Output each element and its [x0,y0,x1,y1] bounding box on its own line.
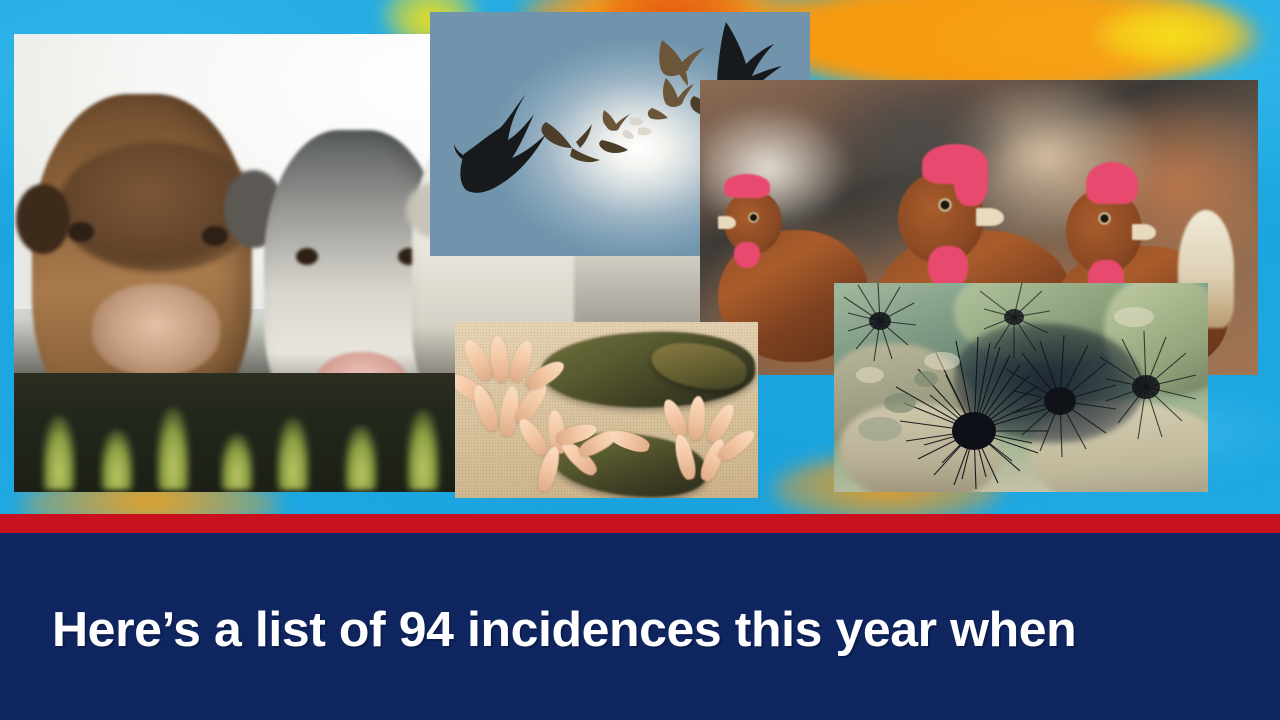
red-divider-bar [0,514,1280,533]
sea-urchin-spines-icon [834,283,1208,492]
headline-line-1: Here’s a list of 94 incidences this year… [52,602,1266,658]
thumbnail-canvas: Here’s a list of 94 incidences this year… [0,0,1280,720]
sea-urchins-photo [834,283,1208,492]
cow-brown-muzzle [92,284,220,376]
starfish-cluster-mid [519,410,629,496]
headline-line-2: vast numbers of animals have died sudden… [52,714,1266,720]
starfish-cluster-right [661,396,755,488]
cow-grey-eye-left [296,248,318,265]
dead-starfish-photo [455,322,758,498]
cow-brown-eye-left [68,222,94,242]
cow-brown-ear-left [16,184,70,254]
cow-brown-eye-right [202,226,228,246]
headline-text: Here’s a list of 94 incidences this year… [52,546,1266,720]
